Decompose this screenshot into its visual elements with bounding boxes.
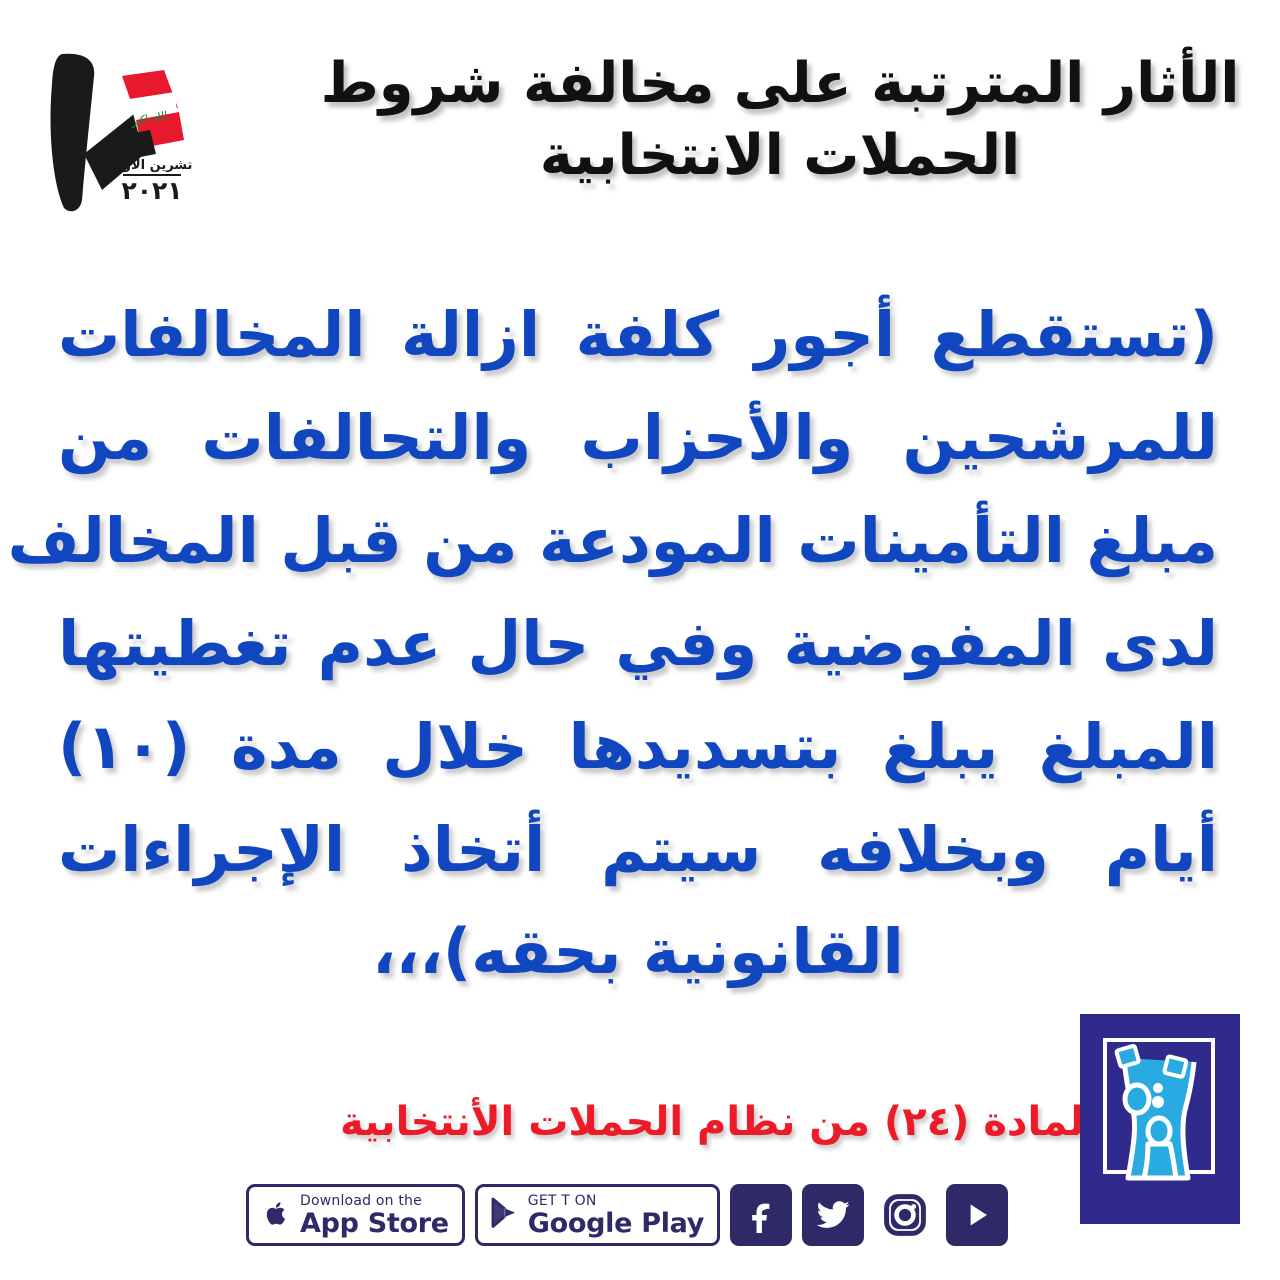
election-2021-logo: الله اكبر تشرين الاول ٢٠٢١: [22, 42, 202, 222]
article-reference: المادة (٢٤) من نظام الحملات الأنتخابية: [254, 1098, 1184, 1146]
paragraph-line: المبلغ يبلغ بتسديدها خلال مدة (١٠): [58, 696, 1218, 799]
app-store-badge[interactable]: Download on the App Store: [246, 1184, 465, 1246]
paragraph-line: القانونية بحقه)،،،: [58, 901, 1218, 1004]
page-title: الأثار المترتبة على مخالفة شروط الحملات …: [310, 48, 1250, 191]
youtube-play-icon[interactable]: [946, 1184, 1008, 1246]
instagram-icon[interactable]: [874, 1184, 936, 1246]
apple-icon: [260, 1198, 291, 1233]
twitter-icon[interactable]: [802, 1184, 864, 1246]
footer-links: Download on the App Store GET T ON Googl…: [246, 1184, 1008, 1246]
page-title-line-2: الحملات الانتخابية: [310, 120, 1250, 192]
app-store-big-label: App Store: [300, 1210, 449, 1237]
header: الله اكبر تشرين الاول ٢٠٢١ الأثار المترت…: [0, 0, 1280, 250]
paragraph-line: أيام وبخلافه سيتم أتخاذ الإجراءات: [58, 799, 1218, 902]
paragraph-line: للمرشحين والأحزاب والتحالفات من: [58, 387, 1218, 490]
google-play-icon: [489, 1197, 519, 1233]
ihec-logo: [1080, 1014, 1240, 1224]
logo-month-label: تشرين الاول: [104, 158, 200, 173]
google-play-badge[interactable]: GET T ON Google Play: [475, 1184, 720, 1246]
page-title-line-1: الأثار المترتبة على مخالفة شروط: [310, 48, 1250, 120]
paragraph-line: لدى المفوضية وفي حال عدم تغطيتها: [58, 593, 1218, 696]
google-play-small-label: GET T ON: [528, 1194, 704, 1208]
main-paragraph: (تستقطع أجور كلفة ازالة المخالفات للمرشح…: [58, 284, 1218, 1004]
logo-year-label: ٢٠٢١: [104, 178, 200, 203]
poster-root: الله اكبر تشرين الاول ٢٠٢١ الأثار المترت…: [0, 0, 1280, 1280]
app-store-small-label: Download on the: [300, 1194, 449, 1208]
google-play-big-label: Google Play: [528, 1210, 704, 1237]
paragraph-line: مبلغ التأمينات المودعة من قبل المخالف: [58, 490, 1218, 593]
paragraph-line: (تستقطع أجور كلفة ازالة المخالفات: [58, 284, 1218, 387]
facebook-icon[interactable]: [730, 1184, 792, 1246]
